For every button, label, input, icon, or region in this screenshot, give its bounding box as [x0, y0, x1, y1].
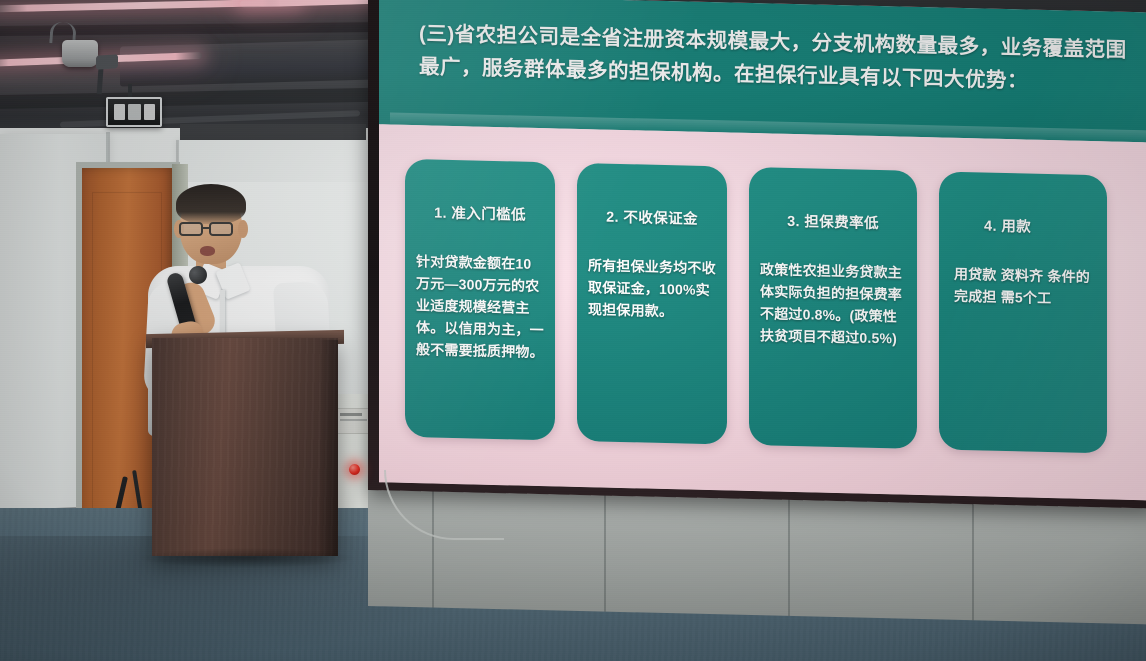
- advantage-card-1[interactable]: 1. 准入门槛低 针对贷款金额在10万元—300万元的农业适度规模经营主体。以信…: [405, 159, 555, 441]
- card-title: 3. 担保费率低: [760, 209, 906, 233]
- podium-side-bevel: [320, 340, 338, 556]
- ceiling-speaker: [62, 40, 98, 67]
- presenter-mouth: [200, 246, 215, 256]
- card-body: 政策性农担业务贷款主体实际负担的担保费率不超过0.8%。(政策性扶贫项目不超过0…: [760, 258, 906, 349]
- slide-header-band: (三)省农担公司是全省注册资本规模最大，分支机构数量最多，业务覆盖范围最广，服务…: [379, 0, 1146, 143]
- card-title: 1. 准入门槛低: [416, 201, 544, 225]
- projector-mount: [96, 54, 118, 70]
- advantage-card-3[interactable]: 3. 担保费率低 政策性农担业务贷款主体实际负担的担保费率不超过0.8%。(政策…: [749, 167, 917, 449]
- glasses-icon: [209, 222, 233, 236]
- exit-sign-glyph: [114, 104, 125, 120]
- slide-canvas: (三)省农担公司是全省注册资本规模最大，分支机构数量最多，业务覆盖范围最广，服务…: [379, 0, 1146, 501]
- presentation-room-photo: (三)省农担公司是全省注册资本规模最大，分支机构数量最多，业务覆盖范围最广，服务…: [0, 0, 1146, 661]
- wainscot-seam: [972, 500, 974, 620]
- advantage-card-list: 1. 准入门槛低 针对贷款金额在10万元—300万元的农业适度规模经营主体。以信…: [405, 159, 1146, 455]
- wainscot-seam: [604, 492, 606, 612]
- presentation-display[interactable]: (三)省农担公司是全省注册资本规模最大，分支机构数量最多，业务覆盖范围最广，服务…: [368, 0, 1146, 509]
- card-title: 2. 不收保证金: [588, 205, 716, 229]
- card-body: 所有担保业务均不收取保证金，100%实现担保用款。: [588, 254, 716, 323]
- advantage-card-2[interactable]: 2. 不收保证金 所有担保业务均不收取保证金，100%实现担保用款。: [577, 163, 727, 445]
- card-title: 4. 用款: [950, 214, 1096, 238]
- slide-header-text: (三)省农担公司是全省注册资本规模最大，分支机构数量最多，业务覆盖范围最广，服务…: [419, 17, 1144, 100]
- wainscot-seam: [788, 496, 790, 616]
- exit-sign-icon: [106, 97, 162, 127]
- podium-floor-shadow: [140, 548, 354, 568]
- card-body: 针对贷款金额在10万元—300万元的农业适度规模经营主体。以信用为主，一般不需要…: [416, 250, 544, 363]
- exit-sign-glyph: [144, 104, 155, 120]
- presenter-ear: [238, 220, 248, 238]
- presenter-hair: [176, 184, 246, 224]
- exit-sign-glyph: [128, 104, 141, 120]
- power-led-indicator: [349, 464, 360, 475]
- podium-wood-grain: [152, 338, 338, 556]
- slide-body: 1. 准入门槛低 针对贷款金额在10万元—300万元的农业适度规模经营主体。以信…: [379, 124, 1146, 500]
- advantage-card-4[interactable]: 4. 用款 用贷款 资料齐 条件的 完成担 需5个工: [939, 171, 1107, 453]
- card-body: 用贷款 资料齐 条件的 完成担 需5个工: [950, 263, 1096, 310]
- glasses-icon: [179, 222, 203, 236]
- glasses-bridge: [203, 227, 211, 229]
